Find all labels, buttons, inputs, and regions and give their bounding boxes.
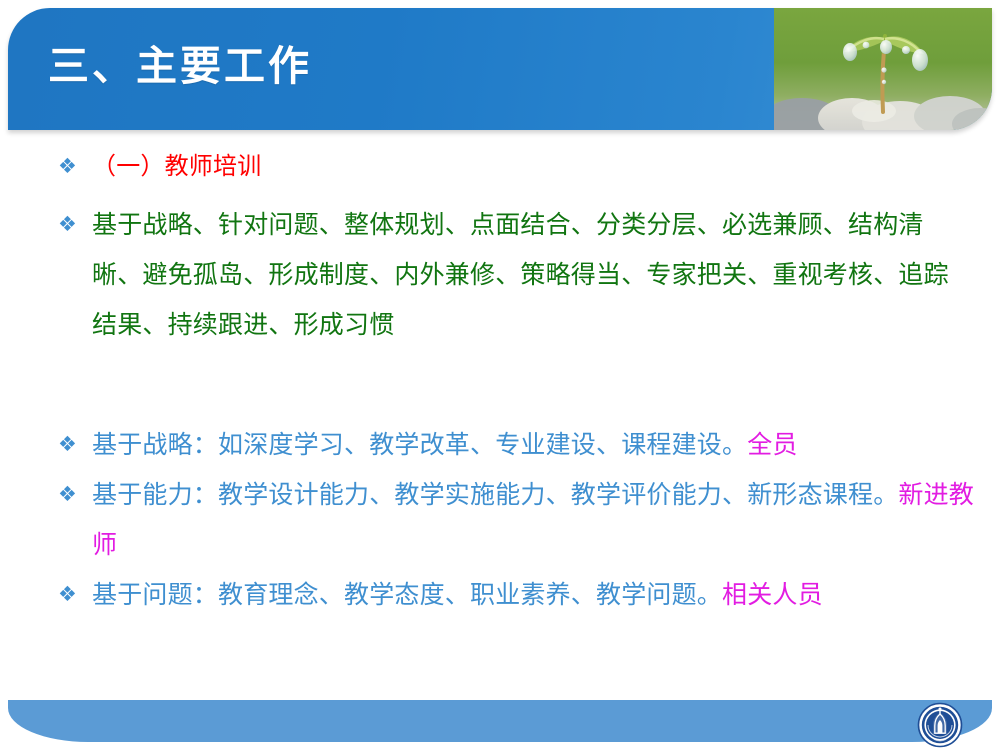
- ability-item-text: 基于能力：教学设计能力、教学实施能力、教学评价能力、新形态课程。: [92, 481, 898, 509]
- bullet-row-ability: ❖ 基于能力：教学设计能力、教学实施能力、教学评价能力、新形态课程。新进教师: [0, 470, 1000, 570]
- slide-canvas: 三、主要工作: [0, 0, 1000, 750]
- diamond-bullet-icon: ❖: [58, 420, 92, 470]
- slide-footer-band: [8, 700, 992, 742]
- problem-item-text: 基于问题：教育理念、教学态度、职业素养、教学问题。: [92, 581, 722, 609]
- slide-content: ❖ （一）教师培训 ❖ 基于战略、针对问题、整体规划、点面结合、分类分层、必选兼…: [0, 148, 1000, 696]
- content-spacer: [0, 350, 1000, 420]
- strategy-item-tag: 全员: [747, 431, 797, 459]
- diamond-bullet-icon: ❖: [58, 570, 92, 620]
- bullet-row-strategy: ❖ 基于战略：如深度学习、教学改革、专业建设、课程建设。全员: [0, 420, 1000, 470]
- bullet-row-section-heading: ❖ （一）教师培训: [0, 148, 1000, 186]
- diamond-bullet-icon: ❖: [58, 470, 92, 520]
- page-title: 三、主要工作: [48, 46, 312, 87]
- bullet-row-problem: ❖ 基于问题：教育理念、教学态度、职业素养、教学问题。相关人员: [0, 570, 1000, 620]
- problem-item-tag: 相关人员: [722, 581, 823, 609]
- strategy-item-text: 基于战略：如深度学习、教学改革、专业建设、课程建设。: [92, 431, 747, 459]
- diamond-bullet-icon: ❖: [58, 200, 92, 250]
- slide-header-banner: 三、主要工作: [8, 8, 992, 130]
- seedling-with-dew-photo: [774, 8, 992, 130]
- principles-paragraph-text: 基于战略、针对问题、整体规划、点面结合、分类分层、必选兼顾、结构清晰、避免孤岛、…: [58, 200, 950, 350]
- institution-seal-logo: [917, 702, 963, 748]
- bullet-row-principles: ❖ 基于战略、针对问题、整体规划、点面结合、分类分层、必选兼顾、结构清晰、避免孤…: [0, 200, 1000, 350]
- diamond-bullet-icon: ❖: [58, 148, 92, 186]
